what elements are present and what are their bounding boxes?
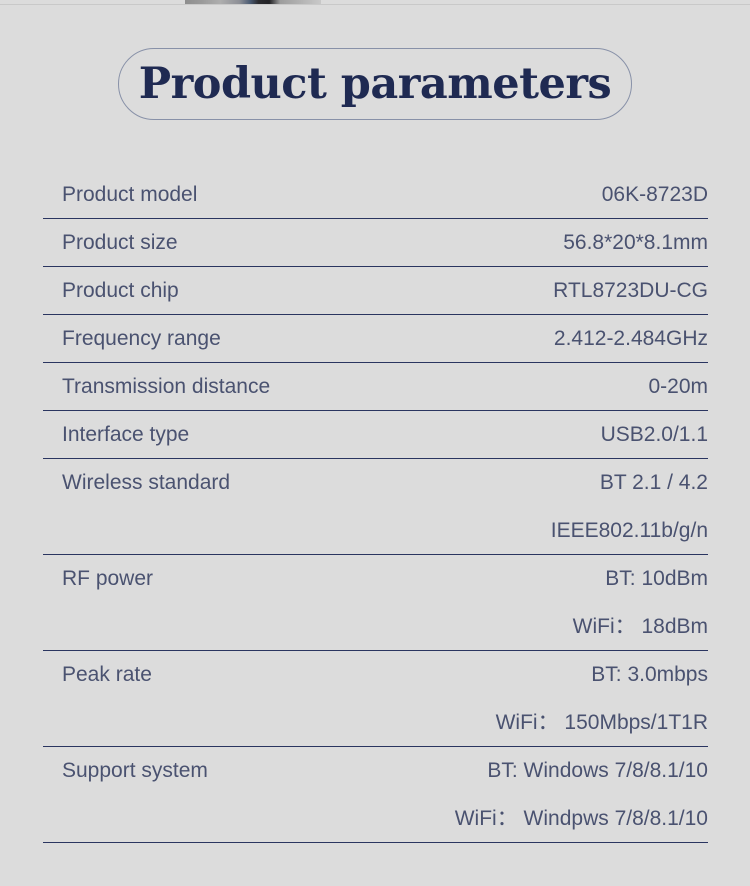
spec-value: WiFi： 18dBm bbox=[573, 603, 708, 651]
spec-table: Product model06K-8723DProduct size56.8*2… bbox=[43, 171, 708, 843]
spec-label: Product chip bbox=[62, 267, 179, 315]
spec-label: Product model bbox=[62, 171, 197, 219]
table-row: Support systemBT: Windows 7/8/8.1/10WiFi… bbox=[43, 747, 708, 843]
spec-value-group: USB2.0/1.1 bbox=[601, 411, 708, 459]
spec-label: Product size bbox=[62, 219, 178, 267]
table-row: Transmission distance0-20m bbox=[43, 363, 708, 411]
spec-label: Interface type bbox=[62, 411, 189, 459]
spec-value: RTL8723DU-CG bbox=[553, 267, 708, 315]
spec-label: Support system bbox=[62, 747, 208, 795]
table-row: Product chipRTL8723DU-CG bbox=[43, 267, 708, 315]
spec-value: BT 2.1 / 4.2 bbox=[551, 459, 708, 507]
spec-value-group: RTL8723DU-CG bbox=[553, 267, 708, 315]
spec-value: WiFi： 150Mbps/1T1R bbox=[496, 699, 708, 747]
page-title-pill: Product parameters bbox=[118, 48, 632, 120]
table-row: Frequency range2.412-2.484GHz bbox=[43, 315, 708, 363]
spec-value: 0-20m bbox=[648, 363, 708, 411]
spec-value: 06K-8723D bbox=[602, 171, 708, 219]
spec-value-group: BT: Windows 7/8/8.1/10WiFi： Windpws 7/8/… bbox=[455, 747, 708, 843]
table-row: Wireless standardBT 2.1 / 4.2IEEE802.11b… bbox=[43, 459, 708, 555]
spec-label: RF power bbox=[62, 555, 153, 603]
spec-value-group: 56.8*20*8.1mm bbox=[563, 219, 708, 267]
page-title: Product parameters bbox=[139, 63, 611, 106]
spec-value: USB2.0/1.1 bbox=[601, 411, 708, 459]
table-row: Product size56.8*20*8.1mm bbox=[43, 219, 708, 267]
spec-value: IEEE802.11b/g/n bbox=[551, 507, 708, 555]
spec-label: Transmission distance bbox=[62, 363, 270, 411]
spec-value: BT: 3.0mbps bbox=[496, 651, 708, 699]
spec-label: Frequency range bbox=[62, 315, 221, 363]
spec-value: BT: 10dBm bbox=[573, 555, 708, 603]
spec-label: Wireless standard bbox=[62, 459, 230, 507]
spec-label: Peak rate bbox=[62, 651, 152, 699]
spec-value-group: BT 2.1 / 4.2IEEE802.11b/g/n bbox=[551, 459, 708, 555]
table-row: Product model06K-8723D bbox=[43, 171, 708, 219]
spec-value-group: 06K-8723D bbox=[602, 171, 708, 219]
spec-value: 2.412-2.484GHz bbox=[554, 315, 708, 363]
table-row: RF powerBT: 10dBmWiFi： 18dBm bbox=[43, 555, 708, 651]
spec-value: 56.8*20*8.1mm bbox=[563, 219, 708, 267]
table-row: Peak rateBT: 3.0mbpsWiFi： 150Mbps/1T1R bbox=[43, 651, 708, 747]
spec-value: BT: Windows 7/8/8.1/10 bbox=[455, 747, 708, 795]
spec-value: WiFi： Windpws 7/8/8.1/10 bbox=[455, 795, 708, 843]
spec-value-group: BT: 10dBmWiFi： 18dBm bbox=[573, 555, 708, 651]
table-row: Interface typeUSB2.0/1.1 bbox=[43, 411, 708, 459]
spec-value-group: 0-20m bbox=[648, 363, 708, 411]
spec-value-group: BT: 3.0mbpsWiFi： 150Mbps/1T1R bbox=[496, 651, 708, 747]
photo-bottom-edge bbox=[0, 4, 750, 5]
spec-value-group: 2.412-2.484GHz bbox=[554, 315, 708, 363]
